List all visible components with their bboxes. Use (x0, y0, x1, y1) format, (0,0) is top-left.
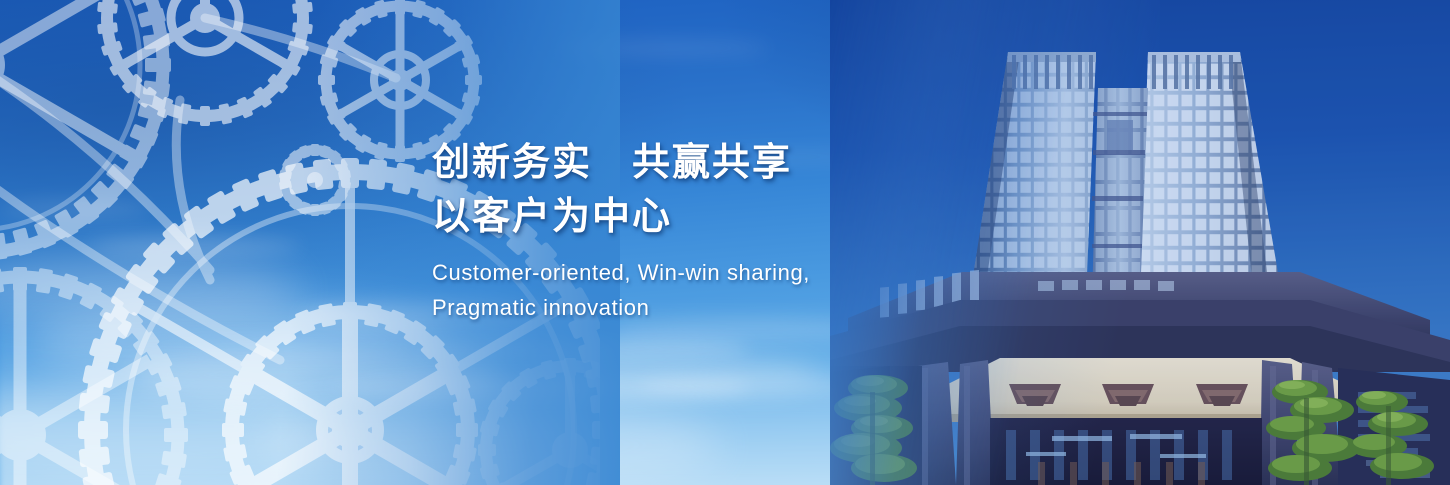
headline-line-2: 以客户为中心 (432, 194, 952, 240)
subheadline: Customer-oriented, Win-win sharing, Prag… (432, 255, 952, 325)
hero-banner: 创新务实 共赢共享 以客户为中心 Customer-oriented, Win-… (0, 0, 1450, 485)
headline-line-1: 创新务实 共赢共享 (432, 140, 952, 186)
subheadline-line-1: Customer-oriented, Win-win sharing, (432, 255, 952, 290)
banner-copy: 创新务实 共赢共享 以客户为中心 Customer-oriented, Win-… (432, 140, 952, 325)
subheadline-line-2: Pragmatic innovation (432, 290, 952, 325)
